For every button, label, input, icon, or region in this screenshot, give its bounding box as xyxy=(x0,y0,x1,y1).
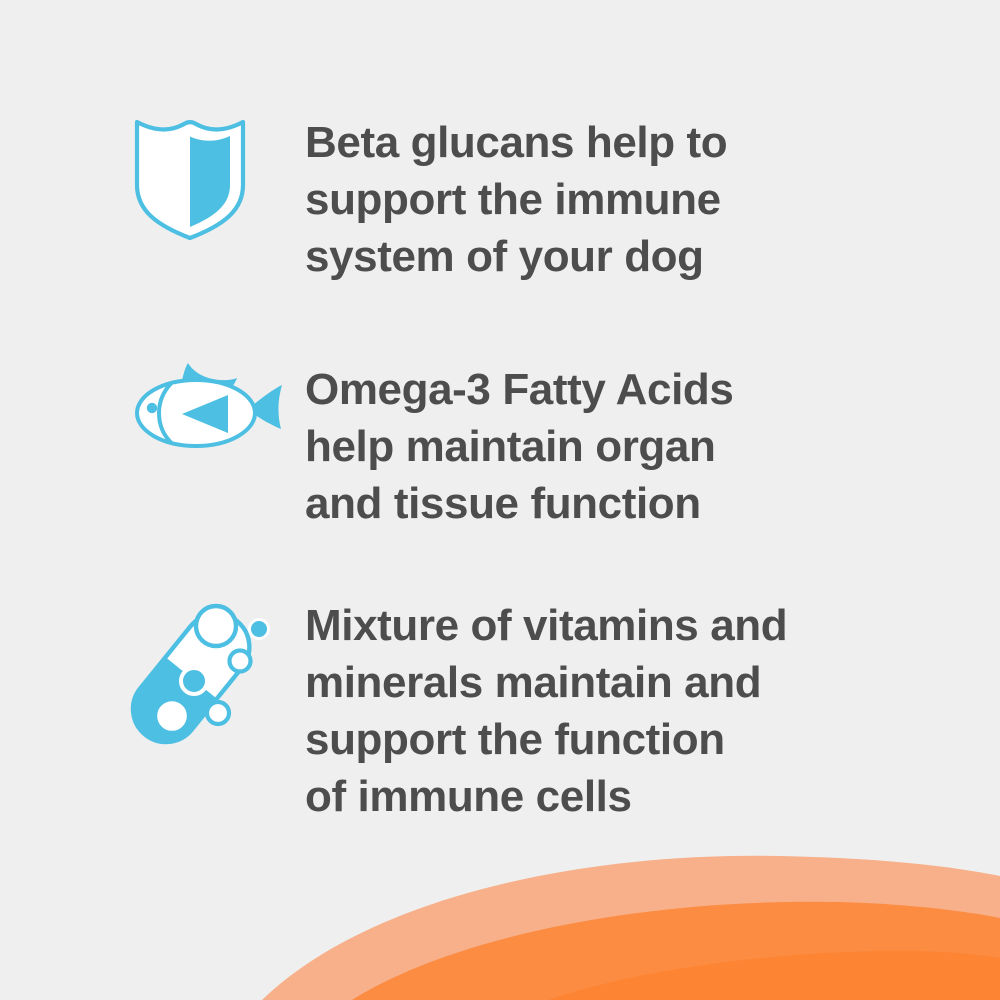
capsule-icon xyxy=(130,601,276,747)
benefit-item-beta-glucans: Beta glucans help to support the immune … xyxy=(130,108,727,285)
benefit-text-vitamins-minerals: Mixture of vitamins and minerals maintai… xyxy=(305,595,787,825)
wave-band-dark xyxy=(548,951,1000,1000)
fish-icon xyxy=(130,357,288,455)
bubble-filled-on-capsule xyxy=(181,668,207,694)
benefit-icon-wrapper xyxy=(130,595,305,747)
benefit-text-beta-glucans: Beta glucans help to support the immune … xyxy=(305,108,727,285)
benefit-text-omega-3: Omega-3 Fatty Acids help maintain organ … xyxy=(305,355,733,532)
shield-icon xyxy=(130,111,254,243)
bubble-small-outline-middle xyxy=(230,651,251,672)
benefit-icon-wrapper xyxy=(130,355,305,455)
bubble-large-outline-top xyxy=(196,606,236,646)
infographic-canvas: Beta glucans help to support the immune … xyxy=(0,0,1000,1000)
benefit-item-omega-3: Omega-3 Fatty Acids help maintain organ … xyxy=(130,355,733,532)
wave-band-light xyxy=(262,856,1000,1000)
bubble-small-filled-right xyxy=(250,620,269,639)
fish-eye xyxy=(147,403,157,413)
bubble-outline-on-capsule xyxy=(207,702,229,724)
wave-band-medium xyxy=(352,902,1000,1000)
bubble-outline-bottom-left xyxy=(155,699,189,733)
benefit-item-vitamins-minerals: Mixture of vitamins and minerals maintai… xyxy=(130,595,787,825)
benefit-icon-wrapper xyxy=(130,108,305,243)
